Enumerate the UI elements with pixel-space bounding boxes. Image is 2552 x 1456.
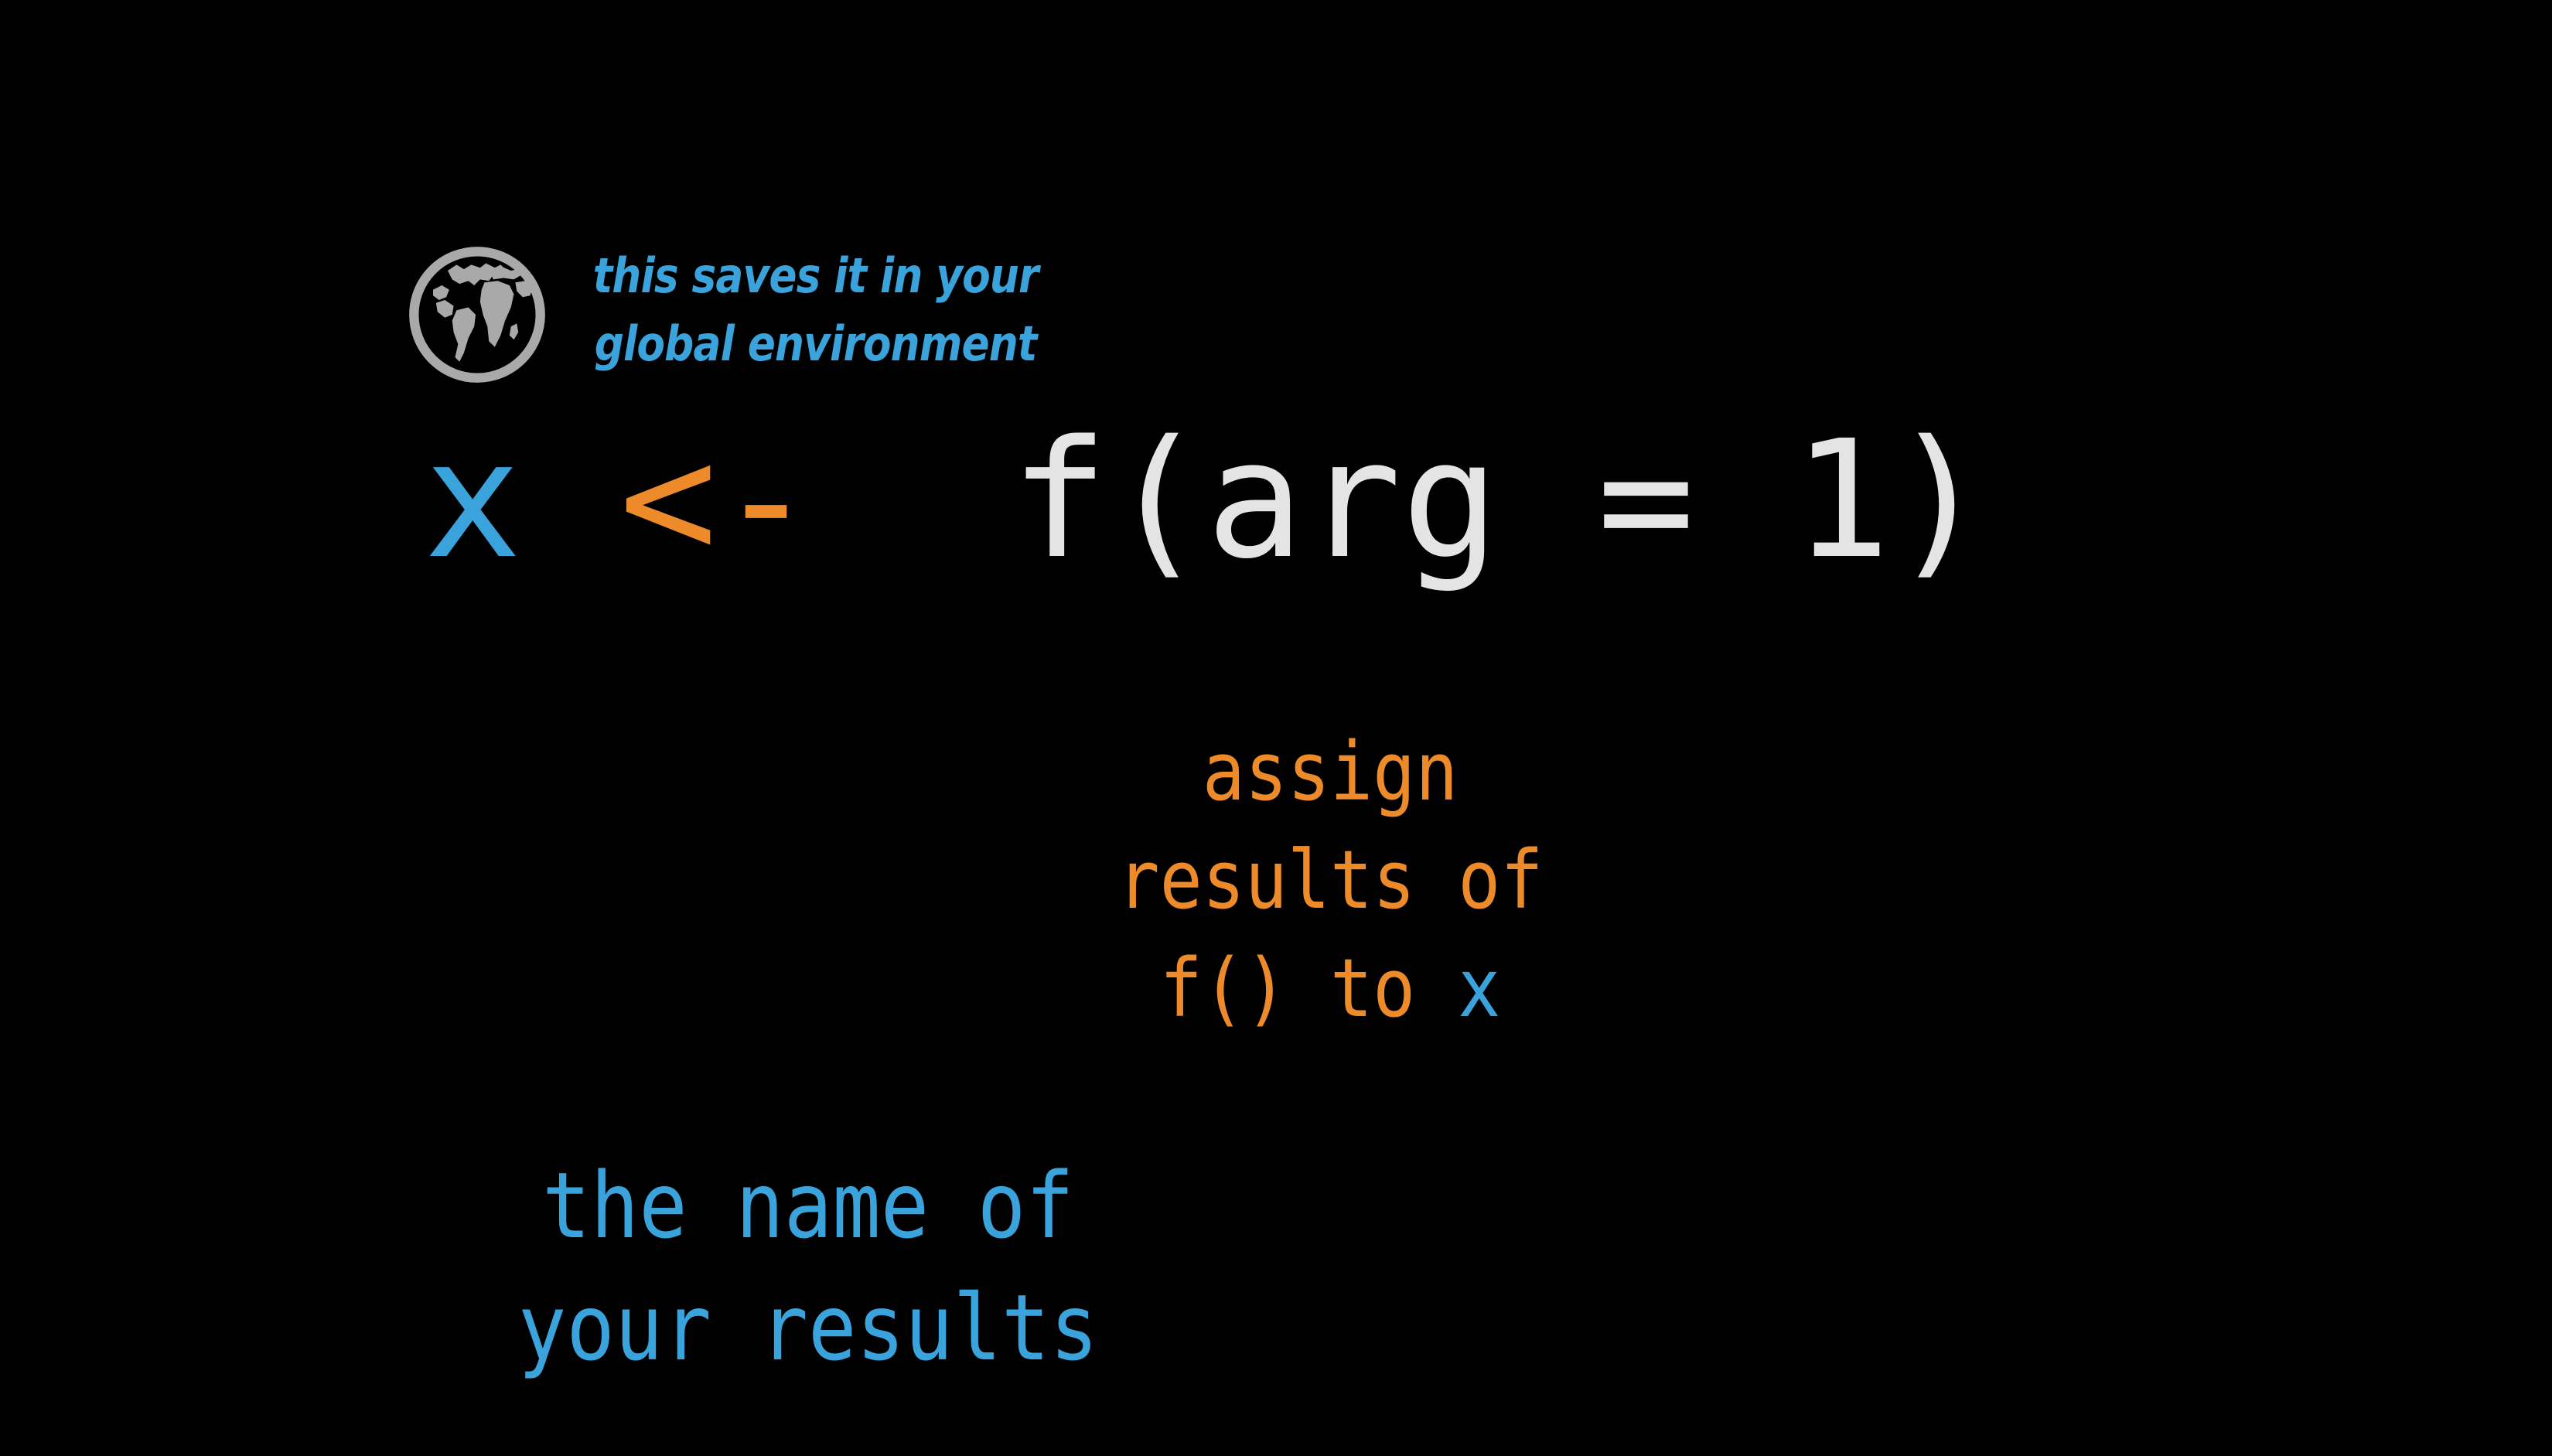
globe-icon [404,241,551,388]
name-note-line-2: your results [390,1267,1227,1389]
name-note-line-1: the name of [390,1144,1227,1267]
result-name-note: the name of your results [390,1144,1227,1389]
code-variable-token: x [424,405,521,595]
slide-canvas: this saves it in your global environment… [0,0,2552,1456]
env-note-line-1: this saves it in your [576,242,1055,310]
assign-note-variable-token: x [1458,941,1500,1035]
assign-note-line-3-prefix: f() to [1160,941,1459,1035]
code-space-2 [815,405,1011,595]
assign-note-line-2: results of [997,826,1663,934]
assign-note-line-1: assign [997,718,1663,826]
code-expression: x <- f(arg = 1) [424,404,1988,597]
code-space-1 [521,405,619,595]
assign-results-note: assign results of f() to x [997,718,1663,1042]
code-assign-operator-token: <- [619,405,815,595]
assign-note-line-3: f() to x [997,934,1663,1042]
code-function-call-token: f(arg = 1) [1011,405,1988,595]
global-environment-note: this saves it in your global environment [576,242,1055,378]
env-note-line-2: global environment [576,310,1055,378]
